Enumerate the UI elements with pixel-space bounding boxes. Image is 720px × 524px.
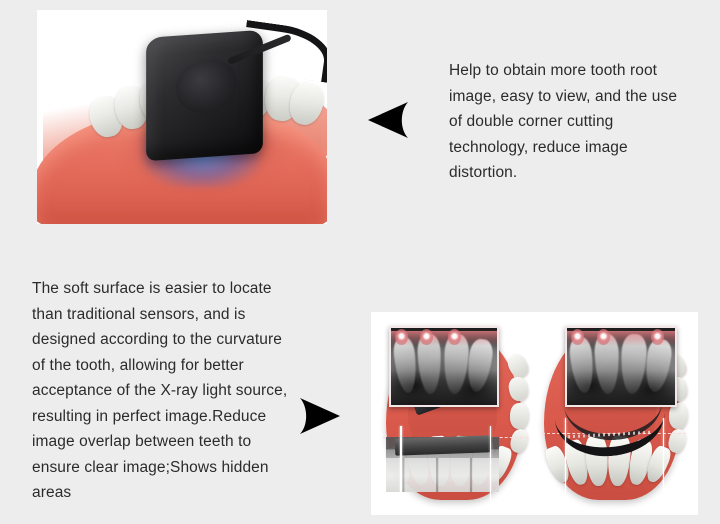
page-root: Help to obtain more tooth root image, ea… [0,0,720,524]
arch-panel-traditional [383,322,528,507]
arch-panels [383,322,686,507]
xray-cusp-marker [597,329,610,344]
sensor-illustration [37,10,327,224]
figure-arch-comparison [371,312,698,515]
description-text: The soft surface is easier to locate tha… [32,276,294,506]
mouth-background [43,18,321,216]
flat-film-bar [394,435,490,455]
guide-line-vertical [565,418,567,503]
tooth [507,376,530,403]
figure-sensor-in-mouth [37,10,327,224]
description-bottom-left: The soft surface is easier to locate tha… [32,276,294,506]
tooth [508,427,530,454]
tooth [667,427,689,454]
arch-panel-soft-sensor [542,322,687,507]
arch-illustration [371,312,698,515]
arrow-right-icon [296,396,342,436]
sensor-bump [176,58,237,114]
tooth [510,403,530,429]
description-top-right: Help to obtain more tooth root image, ea… [449,58,681,186]
arrow-left-icon [366,100,412,140]
xray-inset-image [389,326,499,407]
xray-cusp-marker [395,329,408,344]
xray-cusp-marker [448,329,461,344]
guide-line-vertical [490,426,492,504]
xray-inset-image [565,326,678,407]
guide-line-vertical [400,426,402,504]
description-text: Help to obtain more tooth root image, ea… [449,58,681,186]
guide-line-vertical [663,418,665,503]
xray-cusp-marker [420,329,433,344]
xray-cusp-marker [571,329,584,344]
